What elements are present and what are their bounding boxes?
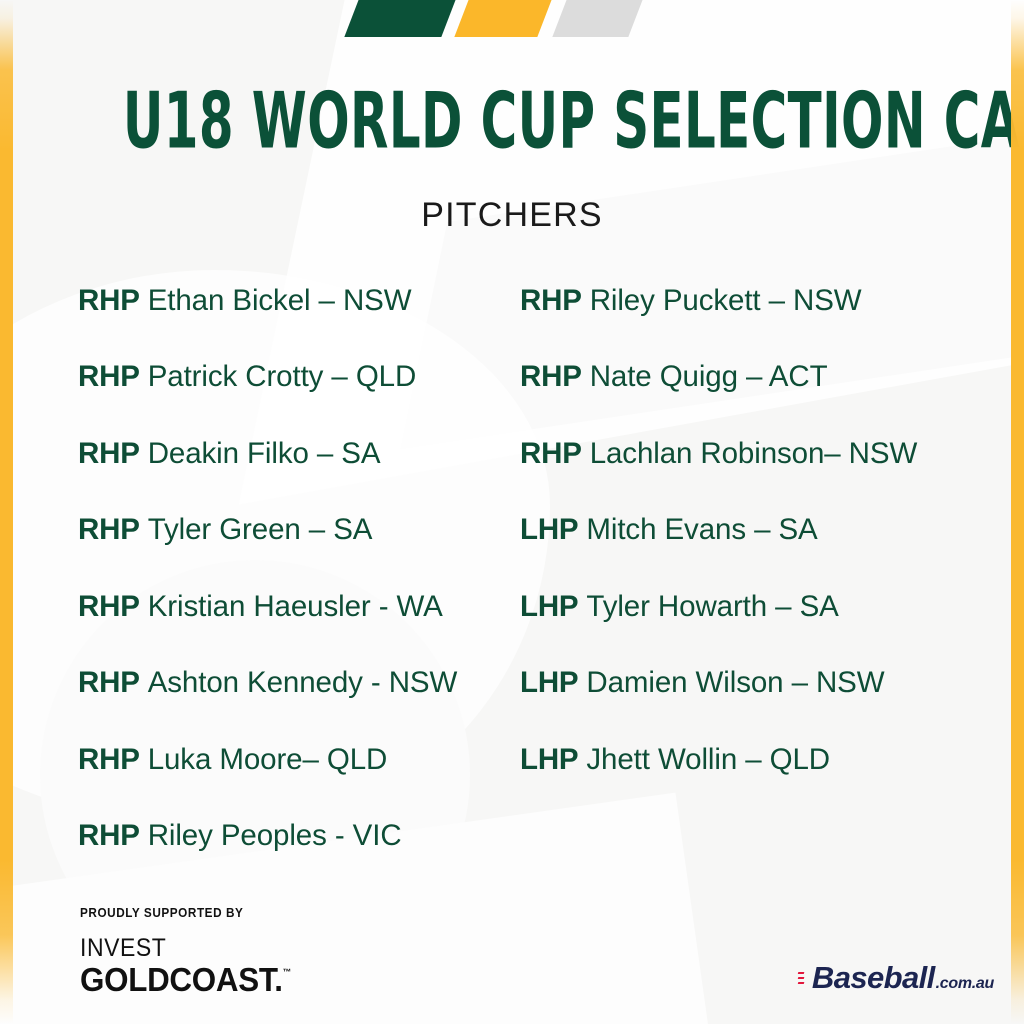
hand-label: LHP — [520, 668, 578, 698]
player-name: Patrick Crotty – QLD — [148, 362, 416, 392]
baseball-au-logo: Baseball .com.au — [812, 962, 994, 993]
hand-label: RHP — [78, 362, 140, 392]
gold-edge-left — [0, 0, 13, 1024]
baseball-wordmark: Baseball — [812, 962, 935, 993]
header-stripes — [0, 0, 1024, 39]
roster-column-left: RHP Ethan Bickel – NSW RHP Patrick Crott… — [78, 262, 520, 874]
list-item: RHP Nate Quigg – ACT — [520, 339, 978, 416]
player-name: Riley Peoples - VIC — [148, 821, 402, 851]
player-name: Ashton Kennedy - NSW — [148, 668, 458, 698]
hand-label: RHP — [78, 439, 140, 469]
list-item: RHP Kristian Haeusler - WA — [78, 568, 520, 645]
list-item: RHP Ethan Bickel – NSW — [78, 262, 520, 339]
hand-label: LHP — [520, 592, 578, 622]
player-name: Lachlan Robinson– NSW — [590, 439, 918, 469]
player-name: Ethan Bickel – NSW — [148, 286, 412, 316]
page-title: U18 WORLD CUP SELECTION CAMP — [123, 83, 901, 160]
list-item: RHP Deakin Filko – SA — [78, 415, 520, 492]
list-item: RHP Tyler Green – SA — [78, 492, 520, 569]
player-name: Mitch Evans – SA — [586, 515, 817, 545]
player-name: Luka Moore– QLD — [148, 745, 388, 775]
hand-label: LHP — [520, 515, 578, 545]
stripe-gold-icon — [454, 0, 552, 37]
hand-label: RHP — [520, 439, 582, 469]
player-name: Nate Quigg – ACT — [590, 362, 828, 392]
player-name: Tyler Howarth – SA — [586, 592, 838, 622]
list-item: RHP Riley Peoples - VIC — [78, 798, 520, 875]
player-name: Deakin Filko – SA — [148, 439, 381, 469]
player-name: Tyler Green – SA — [148, 515, 373, 545]
sponsor-block: PROUDLY SUPPORTED BY INVEST GOLDCOAST.™ — [80, 906, 302, 996]
hand-label: RHP — [78, 286, 140, 316]
hand-label: RHP — [78, 668, 140, 698]
poster: U18 WORLD CUP SELECTION CAMP PITCHERS RH… — [0, 0, 1024, 1024]
gold-edge-right — [1011, 0, 1024, 1024]
section-subtitle: PITCHERS — [0, 196, 1024, 235]
list-item: RHP Lachlan Robinson– NSW — [520, 415, 978, 492]
player-name: Kristian Haeusler - WA — [148, 592, 443, 622]
invest-goldcoast-logo-line1: INVEST — [80, 936, 285, 961]
sponsor-prefix-label: PROUDLY SUPPORTED BY — [80, 906, 289, 920]
invest-goldcoast-wordmark: GOLDCOAST. — [80, 961, 283, 998]
list-item: LHP Mitch Evans – SA — [520, 492, 978, 569]
baseball-domain-suffix: .com.au — [936, 976, 994, 992]
trademark-icon: ™ — [283, 967, 292, 977]
list-item: LHP Damien Wilson – NSW — [520, 645, 978, 722]
list-item: RHP Luka Moore– QLD — [78, 721, 520, 798]
stripe-grey-icon — [552, 0, 643, 37]
hand-label: RHP — [78, 515, 140, 545]
hand-label: RHP — [78, 821, 140, 851]
stripe-green-icon — [344, 0, 456, 37]
list-item: LHP Tyler Howarth – SA — [520, 568, 978, 645]
list-item: LHP Jhett Wollin – QLD — [520, 721, 978, 798]
hand-label: RHP — [78, 745, 140, 775]
player-name: Jhett Wollin – QLD — [586, 745, 830, 775]
list-item: RHP Patrick Crotty – QLD — [78, 339, 520, 416]
roster: RHP Ethan Bickel – NSW RHP Patrick Crott… — [78, 262, 978, 874]
list-item: RHP Riley Puckett – NSW — [520, 262, 978, 339]
list-item: RHP Ashton Kennedy - NSW — [78, 645, 520, 722]
invest-goldcoast-logo-line2: GOLDCOAST.™ — [80, 963, 291, 996]
hand-label: RHP — [78, 592, 140, 622]
hand-label: RHP — [520, 286, 582, 316]
player-name: Damien Wilson – NSW — [586, 668, 884, 698]
roster-column-right: RHP Riley Puckett – NSW RHP Nate Quigg –… — [520, 262, 978, 798]
player-name: Riley Puckett – NSW — [590, 286, 862, 316]
hand-label: RHP — [520, 362, 582, 392]
hand-label: LHP — [520, 745, 578, 775]
